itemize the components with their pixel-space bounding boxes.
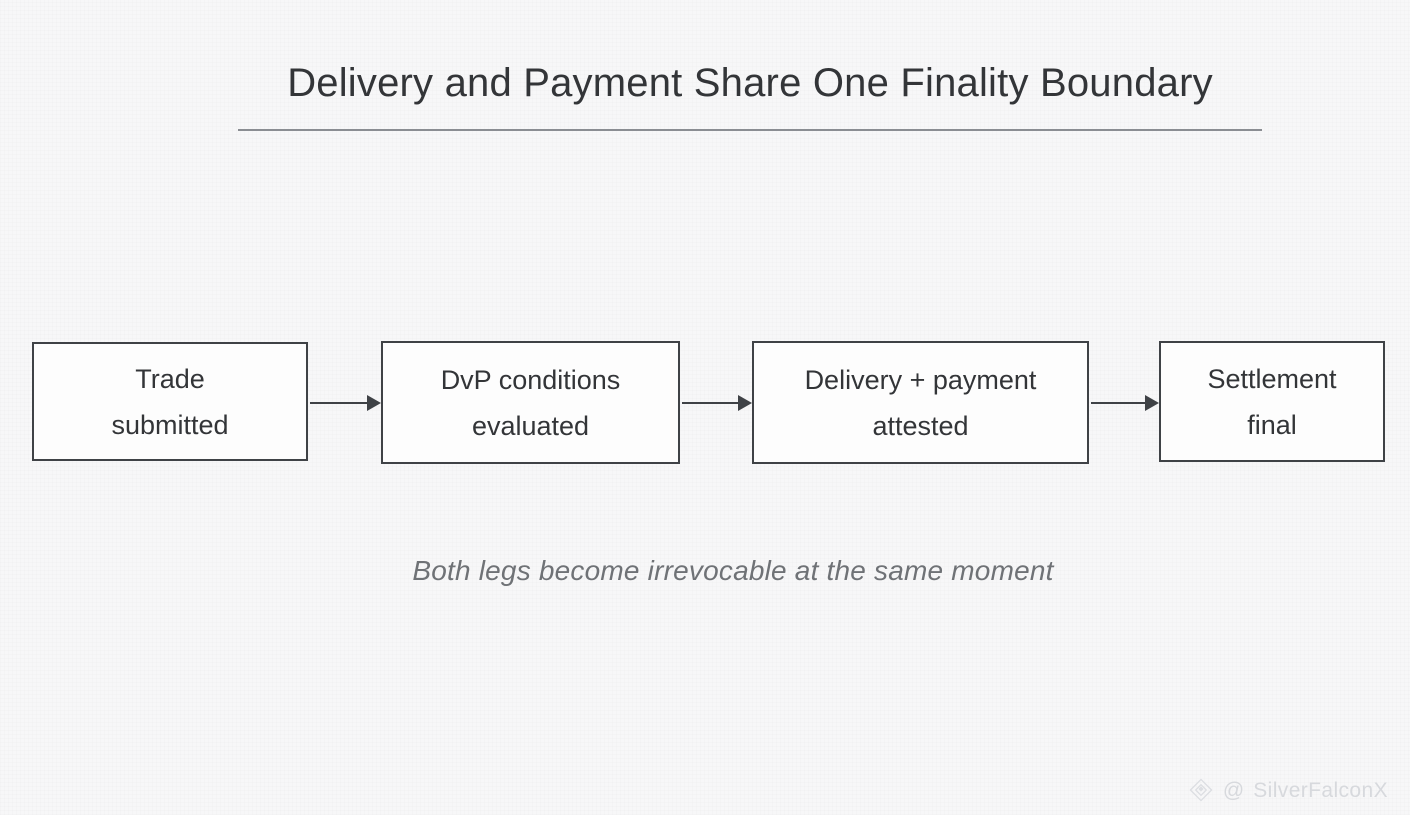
flow-node-dvp-conditions[interactable]: DvP conditions evaluated xyxy=(381,341,680,464)
flow-node-delivery-payment[interactable]: Delivery + payment attested xyxy=(752,341,1089,464)
title-divider xyxy=(238,129,1262,131)
flow-node-label: Settlement final xyxy=(1197,356,1346,448)
arrow-head xyxy=(738,395,752,411)
arrow-right-icon-3 xyxy=(1091,402,1159,404)
flow-node-label: Delivery + payment attested xyxy=(795,357,1047,449)
arrow-shaft xyxy=(310,402,368,404)
arrow-head xyxy=(367,395,381,411)
slide-caption: Both legs become irrevocable at the same… xyxy=(0,555,1410,587)
arrow-head xyxy=(1145,395,1159,411)
arrow-shaft xyxy=(1091,402,1146,404)
flow-node-label: Trade submitted xyxy=(101,356,238,448)
watermark-handle: SilverFalconX xyxy=(1253,780,1388,801)
flow-node-trade-submitted[interactable]: Trade submitted xyxy=(32,342,308,461)
arrow-right-icon-2 xyxy=(682,402,752,404)
flow-node-label: DvP conditions evaluated xyxy=(431,357,631,449)
arrow-right-icon-1 xyxy=(310,402,381,404)
watermark: @ SilverFalconX xyxy=(1188,777,1388,803)
slide-canvas: Delivery and Payment Share One Finality … xyxy=(0,0,1410,815)
flow-node-settlement-final[interactable]: Settlement final xyxy=(1159,341,1385,462)
arrow-shaft xyxy=(682,402,739,404)
page-title: Delivery and Payment Share One Finality … xyxy=(238,60,1262,106)
process-flow-diagram: Trade submitted DvP conditions evaluated… xyxy=(0,341,1410,465)
title-block: Delivery and Payment Share One Finality … xyxy=(238,60,1262,131)
watermark-at-symbol: @ xyxy=(1223,780,1244,801)
diamond-logo-icon xyxy=(1188,777,1214,803)
